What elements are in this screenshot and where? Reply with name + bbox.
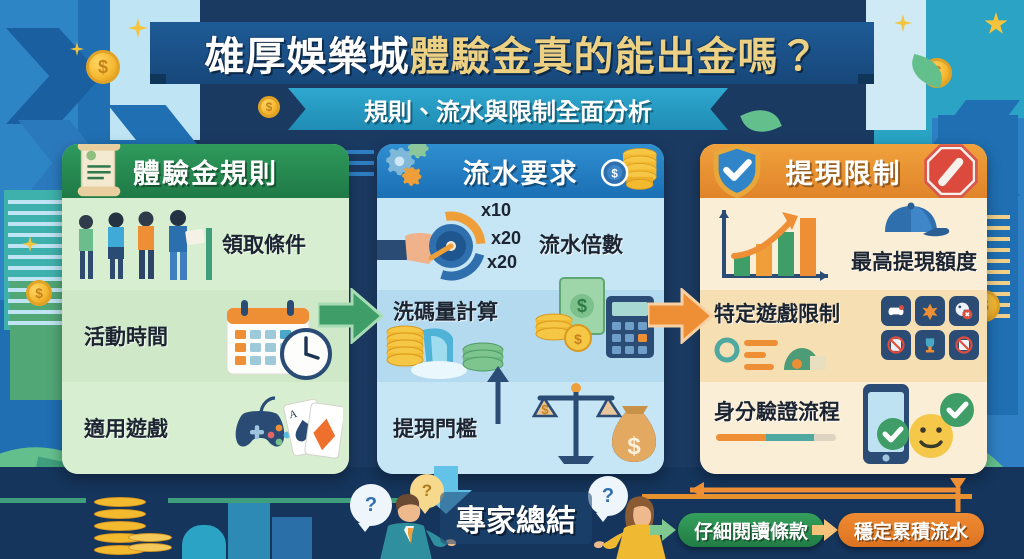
- panel-row[interactable]: 洗碼量計算: [377, 290, 664, 382]
- panel-row[interactable]: 身分驗證流程: [700, 382, 987, 474]
- gears-icon: [383, 144, 445, 202]
- panel-row[interactable]: 活動時間: [62, 290, 349, 382]
- title-banner: 雄厚娛樂城體驗金真的能出金嗎？: [150, 22, 874, 84]
- bg-building: [182, 525, 226, 559]
- panel-title: 提現限制: [786, 152, 902, 191]
- card-prohibited-icon: [881, 330, 911, 360]
- flow-arrow-rules-to-wager: [318, 288, 384, 344]
- svg-text:$: $: [574, 331, 582, 347]
- title-brand: 雄厚娛樂城: [205, 35, 410, 79]
- expert-summary-box: 專家總結: [440, 492, 592, 544]
- up-arrow-icon: [485, 356, 515, 426]
- row-label: 提現門檻: [393, 413, 477, 443]
- panel-row[interactable]: 最高提現額度: [700, 198, 987, 290]
- panel-row[interactable]: 提現門檻 $ $: [377, 382, 664, 474]
- page-title: 雄厚娛樂城體驗金真的能出金嗎？: [205, 24, 820, 82]
- panel-rows: 領取條件 活動時間: [62, 198, 349, 474]
- money-calculator-icon: $ $: [532, 268, 662, 378]
- blocked-games-grid: [881, 296, 979, 360]
- svg-text:$: $: [541, 402, 549, 417]
- star-burst-blocked-icon: [915, 296, 945, 326]
- flow-arrow-wager-to-limits: [648, 288, 714, 344]
- growth-bar-chart-icon: [710, 206, 842, 286]
- coin-stack-icon: [128, 533, 172, 559]
- panel-row[interactable]: 適用遊戲 A: [62, 382, 349, 474]
- infographic-canvas: $ $ $ $ $ $: [0, 0, 1024, 559]
- slot-prohibited-icon: [949, 330, 979, 360]
- row-label: 洗碼量計算: [393, 296, 498, 326]
- gamepad-blocked-icon: [881, 296, 911, 326]
- panel-header: 體驗金規則: [62, 144, 349, 198]
- balance-scale-money-bag-icon: $ $: [518, 378, 658, 472]
- bg-building: [272, 517, 312, 559]
- footer-arrow-green: [650, 519, 676, 541]
- stop-sign-icon: [921, 144, 981, 200]
- footer-badge-label: 仔細閱讀條款: [694, 517, 808, 544]
- trophy-blocked-icon: [915, 330, 945, 360]
- svg-text:$: $: [627, 433, 641, 460]
- settings-list-icon: [714, 334, 832, 376]
- coin-icon: $: [258, 96, 280, 118]
- page-subtitle: 規則、流水與限制全面分析: [364, 92, 652, 127]
- row-label: 特定遊戲限制: [714, 298, 840, 328]
- feedback-loop-arrow: [668, 478, 968, 514]
- row-label: 領取條件: [222, 229, 306, 259]
- cap-hat-icon: [873, 198, 953, 244]
- subtitle-banner: 規則、流水與限制全面分析: [288, 88, 728, 130]
- panel-rows: 最高提現額度 特定遊戲限制: [700, 198, 987, 474]
- panel-rows: x10 x20 x20 流水倍數 洗碼量計算: [377, 198, 664, 474]
- verification-progress-bar: [716, 434, 836, 441]
- queue-of-people-icon: [66, 208, 216, 286]
- row-label: 最高提現額度: [851, 246, 977, 276]
- multiplier-x20-label: x20: [491, 228, 521, 249]
- footer-arrow-orange: [812, 519, 838, 541]
- footer-badge-label: 穩定累積流水: [854, 517, 968, 544]
- row-label: 活動時間: [84, 321, 168, 351]
- multiplier-x20-alt-label: x20: [487, 252, 517, 273]
- footer-badge-accumulate-wager[interactable]: 穩定累積流水: [838, 513, 984, 547]
- coin-icon: $: [26, 280, 52, 306]
- svg-text:$: $: [577, 296, 587, 316]
- panel-title: 流水要求: [463, 152, 579, 191]
- phone-verification-icon: [849, 378, 979, 470]
- multiplier-x10-label: x10: [481, 200, 511, 221]
- bg-building-windows: [8, 200, 64, 332]
- row-label: 適用遊戲: [84, 413, 168, 443]
- casino-chip-coins-icon: $: [598, 144, 658, 200]
- shield-check-icon: [706, 144, 768, 202]
- panel-row[interactable]: 領取條件: [62, 198, 349, 290]
- panel-header: 提現限制: [700, 144, 987, 198]
- panel-header: 流水要求 $: [377, 144, 664, 198]
- leaf-icon: [740, 102, 782, 140]
- panel-row[interactable]: 特定遊戲限制: [700, 290, 987, 382]
- row-label: 流水倍數: [539, 229, 623, 259]
- dice-blocked-icon: [949, 296, 979, 326]
- panel-withdrawal-limits[interactable]: 提現限制: [700, 144, 987, 474]
- panel-title: 體驗金規則: [133, 152, 278, 191]
- title-question: 體驗金真的能出金嗎？: [410, 35, 820, 79]
- bg-building: [228, 501, 270, 559]
- panel-wagering-requirement[interactable]: 流水要求 $: [377, 144, 664, 474]
- panel-experience-bonus-rules[interactable]: 體驗金規則: [62, 144, 349, 474]
- flow-line: [0, 498, 86, 503]
- footer-badge-read-terms[interactable]: 仔細閱讀條款: [678, 513, 824, 547]
- row-label: 身分驗證流程: [714, 396, 840, 426]
- gamepad-playing-cards-icon: A: [203, 386, 343, 472]
- scroll-document-icon: [68, 144, 130, 202]
- expert-summary-label: 專家總結: [456, 505, 576, 538]
- coin-icon: $: [86, 50, 120, 84]
- svg-text:$: $: [611, 168, 618, 181]
